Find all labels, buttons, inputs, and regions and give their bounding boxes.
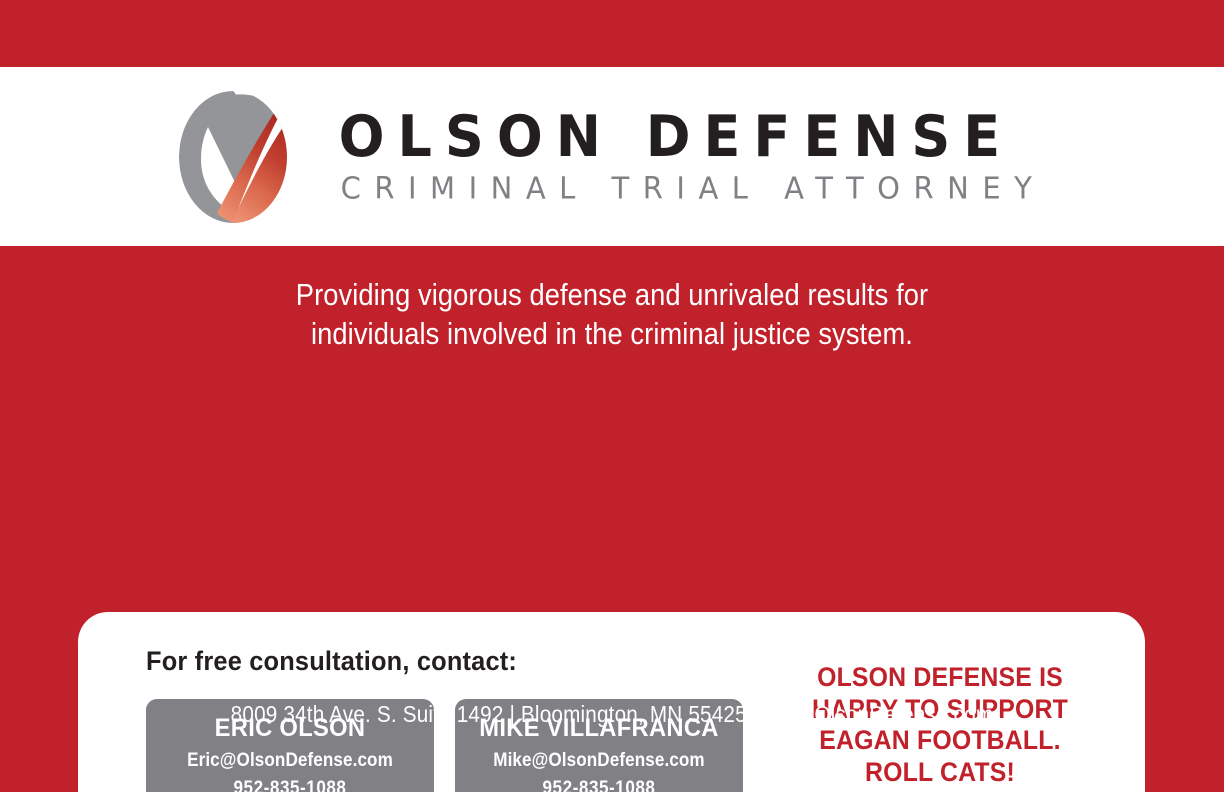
logo-lockup: OLSON DEFENSE CRIMINAL TRIAL ATTORNEY [171,89,1046,225]
contact-email[interactable]: Mike@OlsonDefense.com [469,747,728,776]
tagline-line-2: individuals involved in the criminal jus… [73,315,1150,354]
sponsor-line-1: OLSON DEFENSE IS [788,662,1092,694]
red-body-panel: Providing vigorous defense and unrivaled… [0,246,1224,792]
footer-address-line[interactable]: 8009 34th Ave. S. Suite 1492 | Bloomingt… [61,701,1163,728]
contact-email[interactable]: Eric@OlsonDefense.com [160,747,419,776]
consultation-label: For free consultation, contact: [146,646,729,677]
top-red-band [0,0,1224,67]
olson-defense-advertisement: OLSON DEFENSE CRIMINAL TRIAL ATTORNEY Pr… [0,0,1224,792]
logo-subtitle: CRIMINAL TRIAL ATTORNEY [339,172,1046,205]
olson-defense-ellipse-swoosh-logo-icon [171,89,295,225]
logo-band: OLSON DEFENSE CRIMINAL TRIAL ATTORNEY [0,67,1224,246]
logo-title: OLSON DEFENSE [339,107,1046,168]
contact-phone[interactable]: 952-835-1088 [160,776,419,792]
logo-wordmark: OLSON DEFENSE CRIMINAL TRIAL ATTORNEY [339,108,1046,204]
contact-phone[interactable]: 952-835-1088 [469,776,728,792]
sponsor-line-3: EAGAN FOOTBALL. [788,725,1092,757]
tagline: Providing vigorous defense and unrivaled… [73,276,1150,354]
sponsor-line-4: ROLL CATS! [788,757,1092,789]
tagline-line-1: Providing vigorous defense and unrivaled… [73,276,1150,315]
